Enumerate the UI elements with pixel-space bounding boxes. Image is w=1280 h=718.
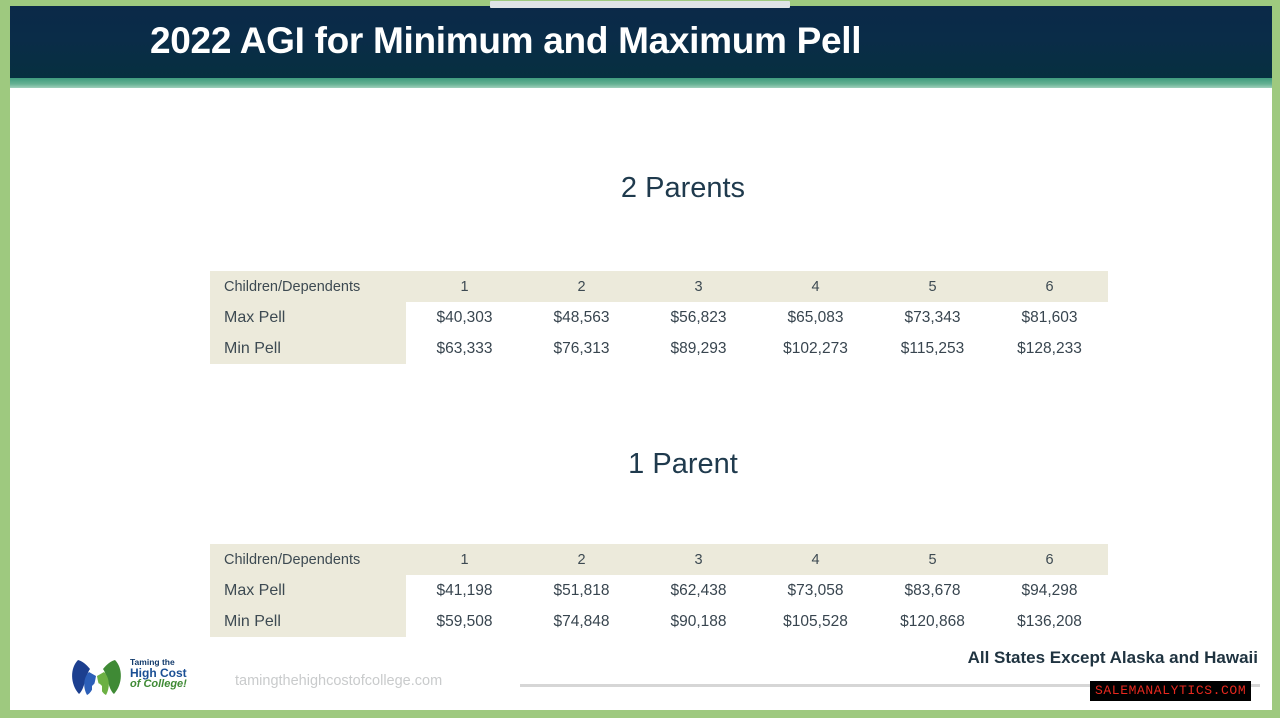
pell-table-one-parent: Children/Dependents 1 2 3 4 5 6 Max Pell… [210, 544, 1108, 637]
cell-max-pell-5: $73,343 [874, 302, 991, 333]
cell-max-pell-5: $83,678 [874, 575, 991, 606]
row-label-min-pell: Min Pell [210, 333, 406, 364]
footer-note: All States Except Alaska and Hawaii [968, 648, 1258, 668]
cell-min-pell-1: $59,508 [406, 606, 523, 637]
column-header-1: 1 [406, 271, 523, 302]
table-row: Min Pell $63,333 $76,313 $89,293 $102,27… [210, 333, 1108, 364]
cell-max-pell-1: $40,303 [406, 302, 523, 333]
slide-body: 2 Parents Children/Dependents 1 2 3 4 5 … [10, 88, 1272, 710]
cell-min-pell-2: $74,848 [523, 606, 640, 637]
section-heading-one-parent: 1 Parent [483, 448, 883, 481]
cell-max-pell-1: $41,198 [406, 575, 523, 606]
cell-min-pell-6: $136,208 [991, 606, 1108, 637]
brand-logo: Taming the High Cost of College! [68, 654, 203, 700]
title-band: 2022 AGI for Minimum and Maximum Pell [10, 6, 1272, 80]
table-header-row: Children/Dependents 1 2 3 4 5 6 [210, 271, 1108, 302]
table-header-row: Children/Dependents 1 2 3 4 5 6 [210, 544, 1108, 575]
globe-swoosh-icon [68, 656, 126, 698]
player-scrub-bar[interactable] [490, 1, 790, 8]
cell-min-pell-6: $128,233 [991, 333, 1108, 364]
cell-max-pell-6: $94,298 [991, 575, 1108, 606]
column-header-5: 5 [874, 544, 991, 575]
row-label-min-pell: Min Pell [210, 606, 406, 637]
row-label-max-pell: Max Pell [210, 302, 406, 333]
column-header-2: 2 [523, 544, 640, 575]
pell-table-two-parents: Children/Dependents 1 2 3 4 5 6 Max Pell… [210, 271, 1108, 364]
table-row: Min Pell $59,508 $74,848 $90,188 $105,52… [210, 606, 1108, 637]
cell-min-pell-4: $102,273 [757, 333, 874, 364]
cell-max-pell-3: $56,823 [640, 302, 757, 333]
column-header-6: 6 [991, 271, 1108, 302]
cell-min-pell-3: $89,293 [640, 333, 757, 364]
column-header-4: 4 [757, 544, 874, 575]
column-header-children-dependents: Children/Dependents [210, 271, 406, 302]
table-row: Max Pell $41,198 $51,818 $62,438 $73,058… [210, 575, 1108, 606]
cell-min-pell-5: $120,868 [874, 606, 991, 637]
column-header-1: 1 [406, 544, 523, 575]
cell-max-pell-2: $48,563 [523, 302, 640, 333]
cell-min-pell-4: $105,528 [757, 606, 874, 637]
cell-max-pell-3: $62,438 [640, 575, 757, 606]
column-header-3: 3 [640, 544, 757, 575]
page-title: 2022 AGI for Minimum and Maximum Pell [150, 20, 1150, 62]
cell-min-pell-5: $115,253 [874, 333, 991, 364]
column-header-4: 4 [757, 271, 874, 302]
column-header-3: 3 [640, 271, 757, 302]
cell-min-pell-2: $76,313 [523, 333, 640, 364]
section-heading-two-parents: 2 Parents [483, 172, 883, 205]
slide-frame: 2022 AGI for Minimum and Maximum Pell 2 … [0, 0, 1280, 718]
cell-min-pell-3: $90,188 [640, 606, 757, 637]
cell-max-pell-6: $81,603 [991, 302, 1108, 333]
accent-stripe [10, 78, 1272, 88]
cell-max-pell-4: $73,058 [757, 575, 874, 606]
logo-wordmark: Taming the High Cost of College! [130, 658, 206, 690]
cell-max-pell-4: $65,083 [757, 302, 874, 333]
column-header-2: 2 [523, 271, 640, 302]
column-header-children-dependents: Children/Dependents [210, 544, 406, 575]
row-label-max-pell: Max Pell [210, 575, 406, 606]
watermark-salemanalytics: SALEMANALYTICS.COM [1090, 681, 1251, 701]
footer-website-url: tamingthehighcostofcollege.com [235, 673, 442, 689]
cell-max-pell-2: $51,818 [523, 575, 640, 606]
column-header-5: 5 [874, 271, 991, 302]
column-header-6: 6 [991, 544, 1108, 575]
logo-line-3: of College! [130, 679, 206, 690]
table-row: Max Pell $40,303 $48,563 $56,823 $65,083… [210, 302, 1108, 333]
cell-min-pell-1: $63,333 [406, 333, 523, 364]
